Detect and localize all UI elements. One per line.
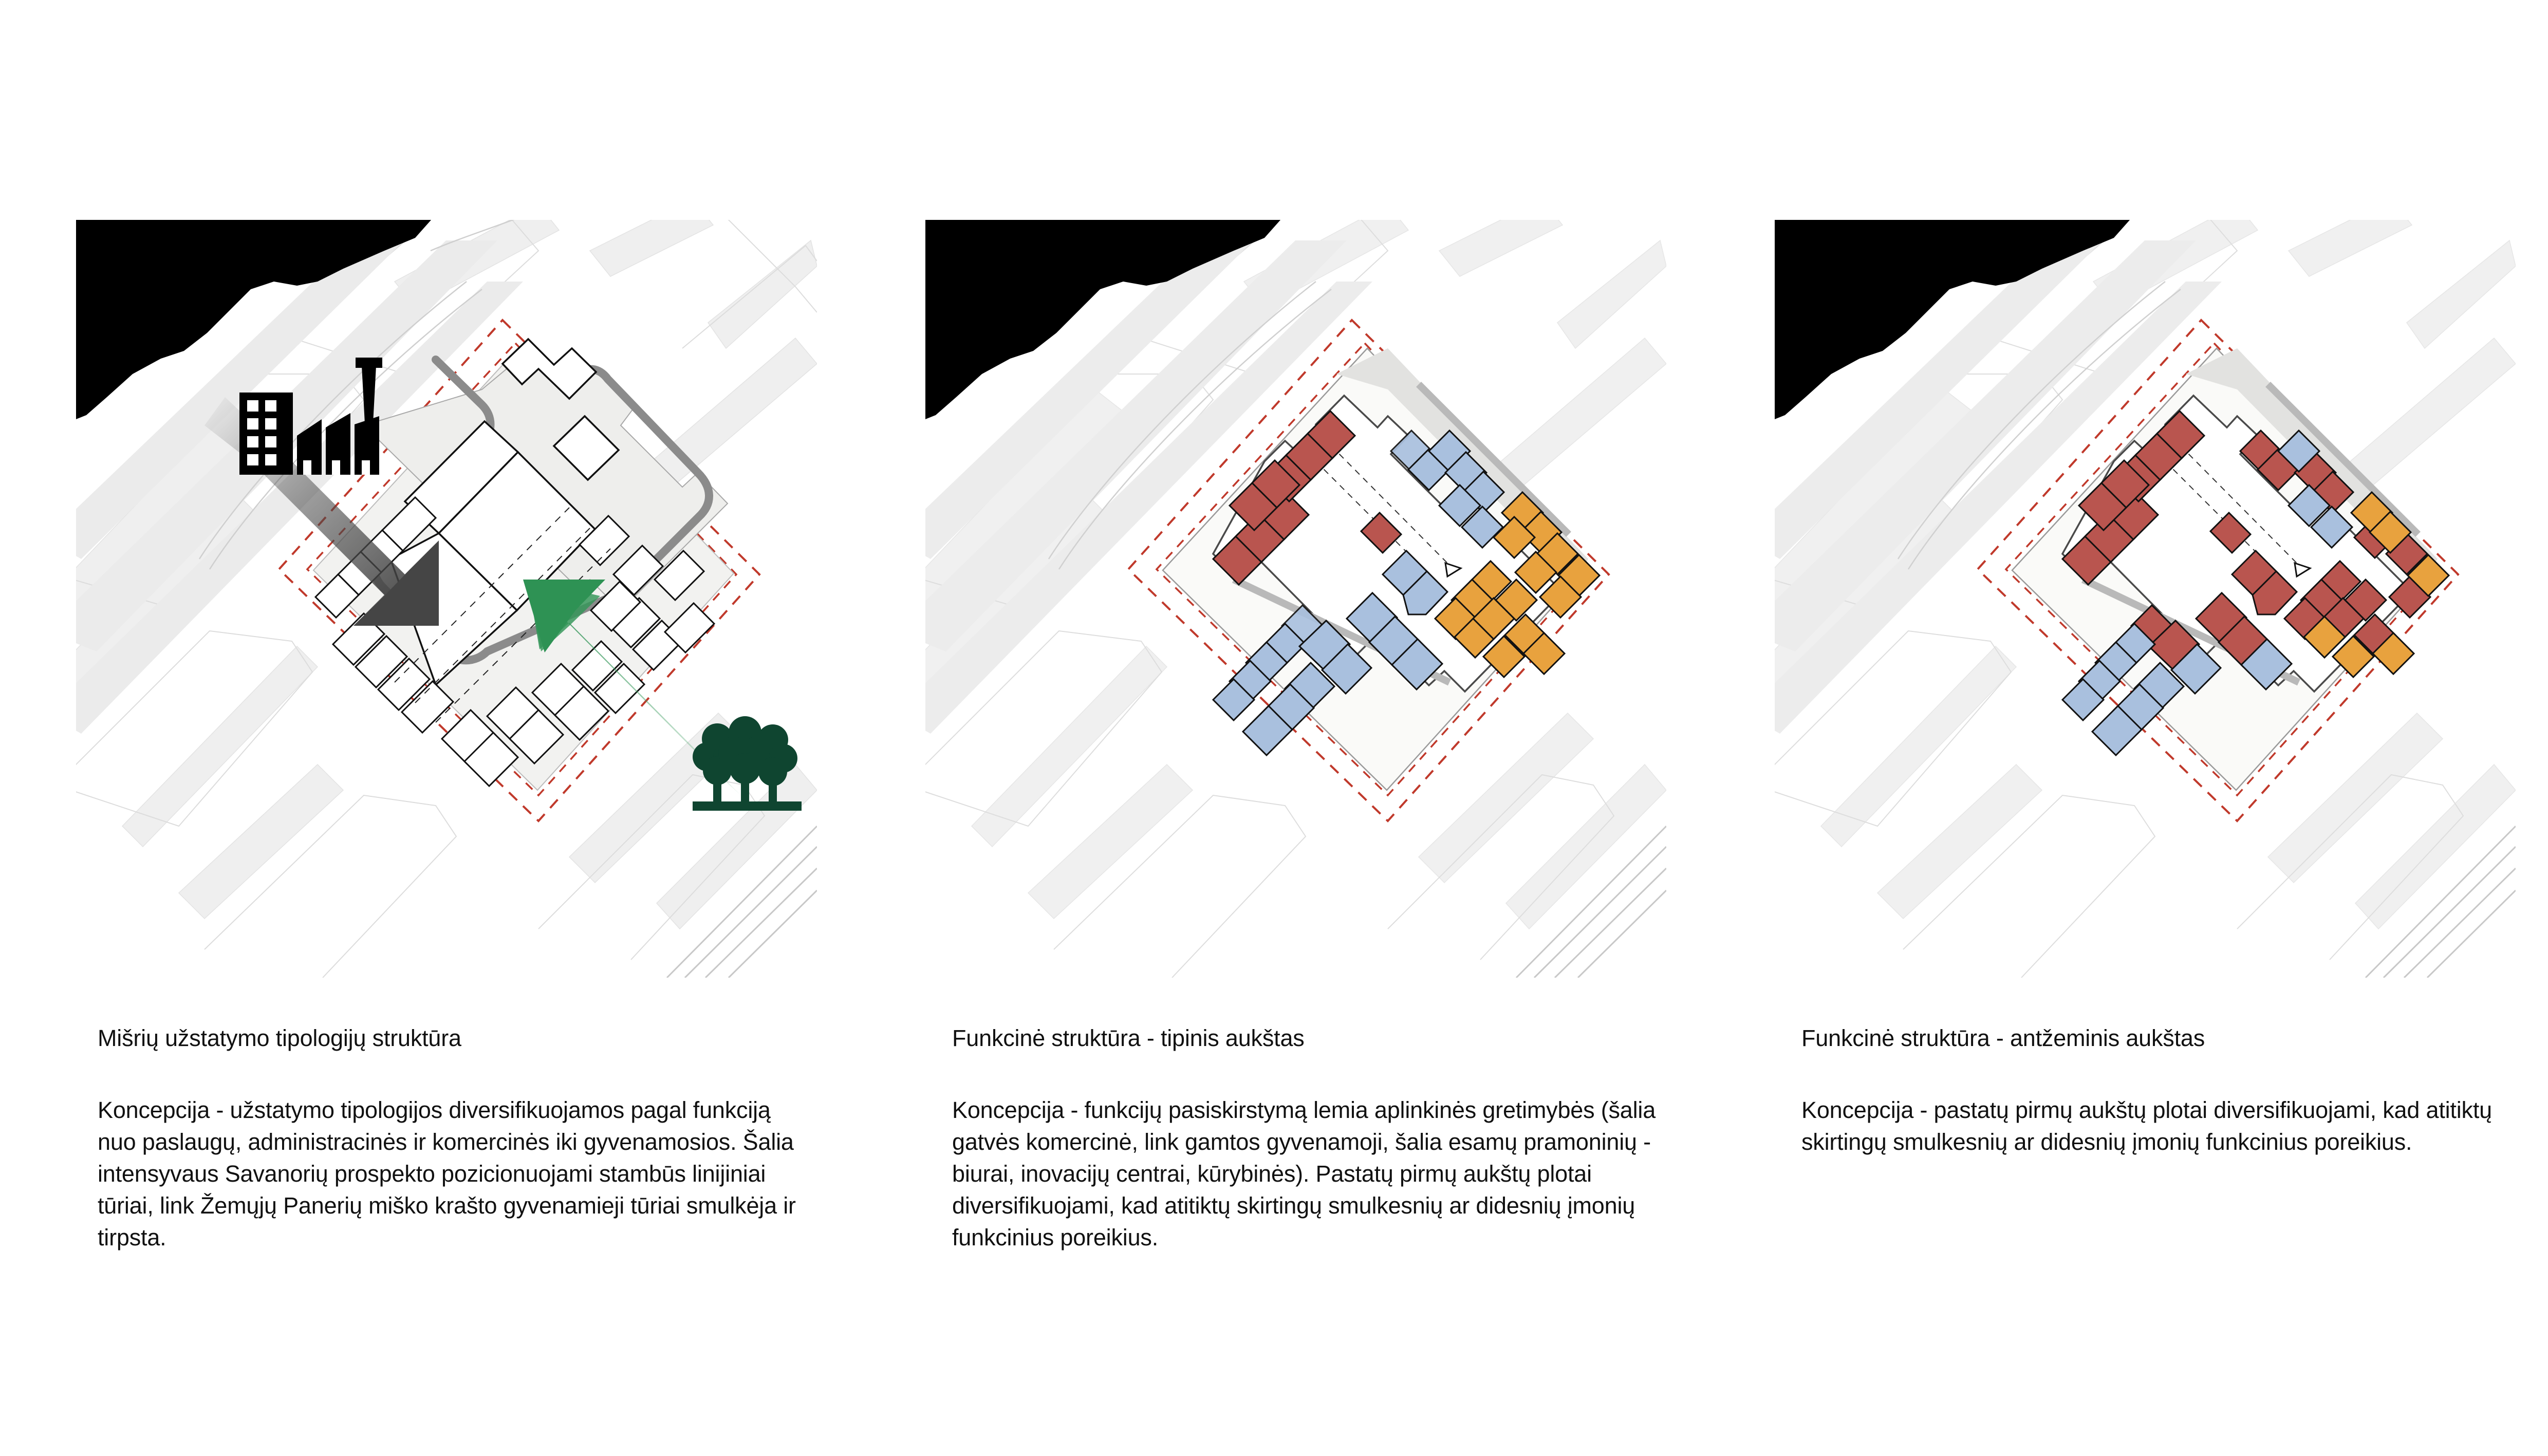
- panel-columns: Mišrių užstatymo tipologijų struktūra Ko…: [0, 0, 2548, 1456]
- presentation-board: Mišrių užstatymo tipologijų struktūra Ko…: [0, 0, 2548, 1456]
- page-title: Funkcinė struktūra - antžeminis aukštas: [1801, 1023, 2521, 1053]
- panel-description: Koncepcija - funkcijų pasiskirstymą lemi…: [952, 1094, 1656, 1254]
- site-plan-ground-floor-figure: [1775, 220, 2516, 978]
- site-plan-typology-figure: [76, 220, 817, 978]
- panel-description: Koncepcija - pastatų pirmų aukštų plotai…: [1801, 1094, 2505, 1158]
- panel-typology: Mišrių užstatymo tipologijų struktūra Ko…: [0, 0, 849, 1456]
- panel-typical-floor: Legenda: Paslaugų ir komercinė veikla Ad…: [849, 0, 1699, 1456]
- page-title: Funkcinė struktūra - tipinis aukštas: [952, 1023, 1671, 1053]
- panel-description: Koncepcija - užstatymo tipologijos diver…: [98, 1094, 802, 1254]
- site-plan-typical-floor-figure: [925, 220, 1666, 978]
- page-title: Mišrių užstatymo tipologijų struktūra: [98, 1023, 817, 1053]
- panel-ground-floor: Funkcinė struktūra - antžeminis aukštas …: [1699, 0, 2548, 1456]
